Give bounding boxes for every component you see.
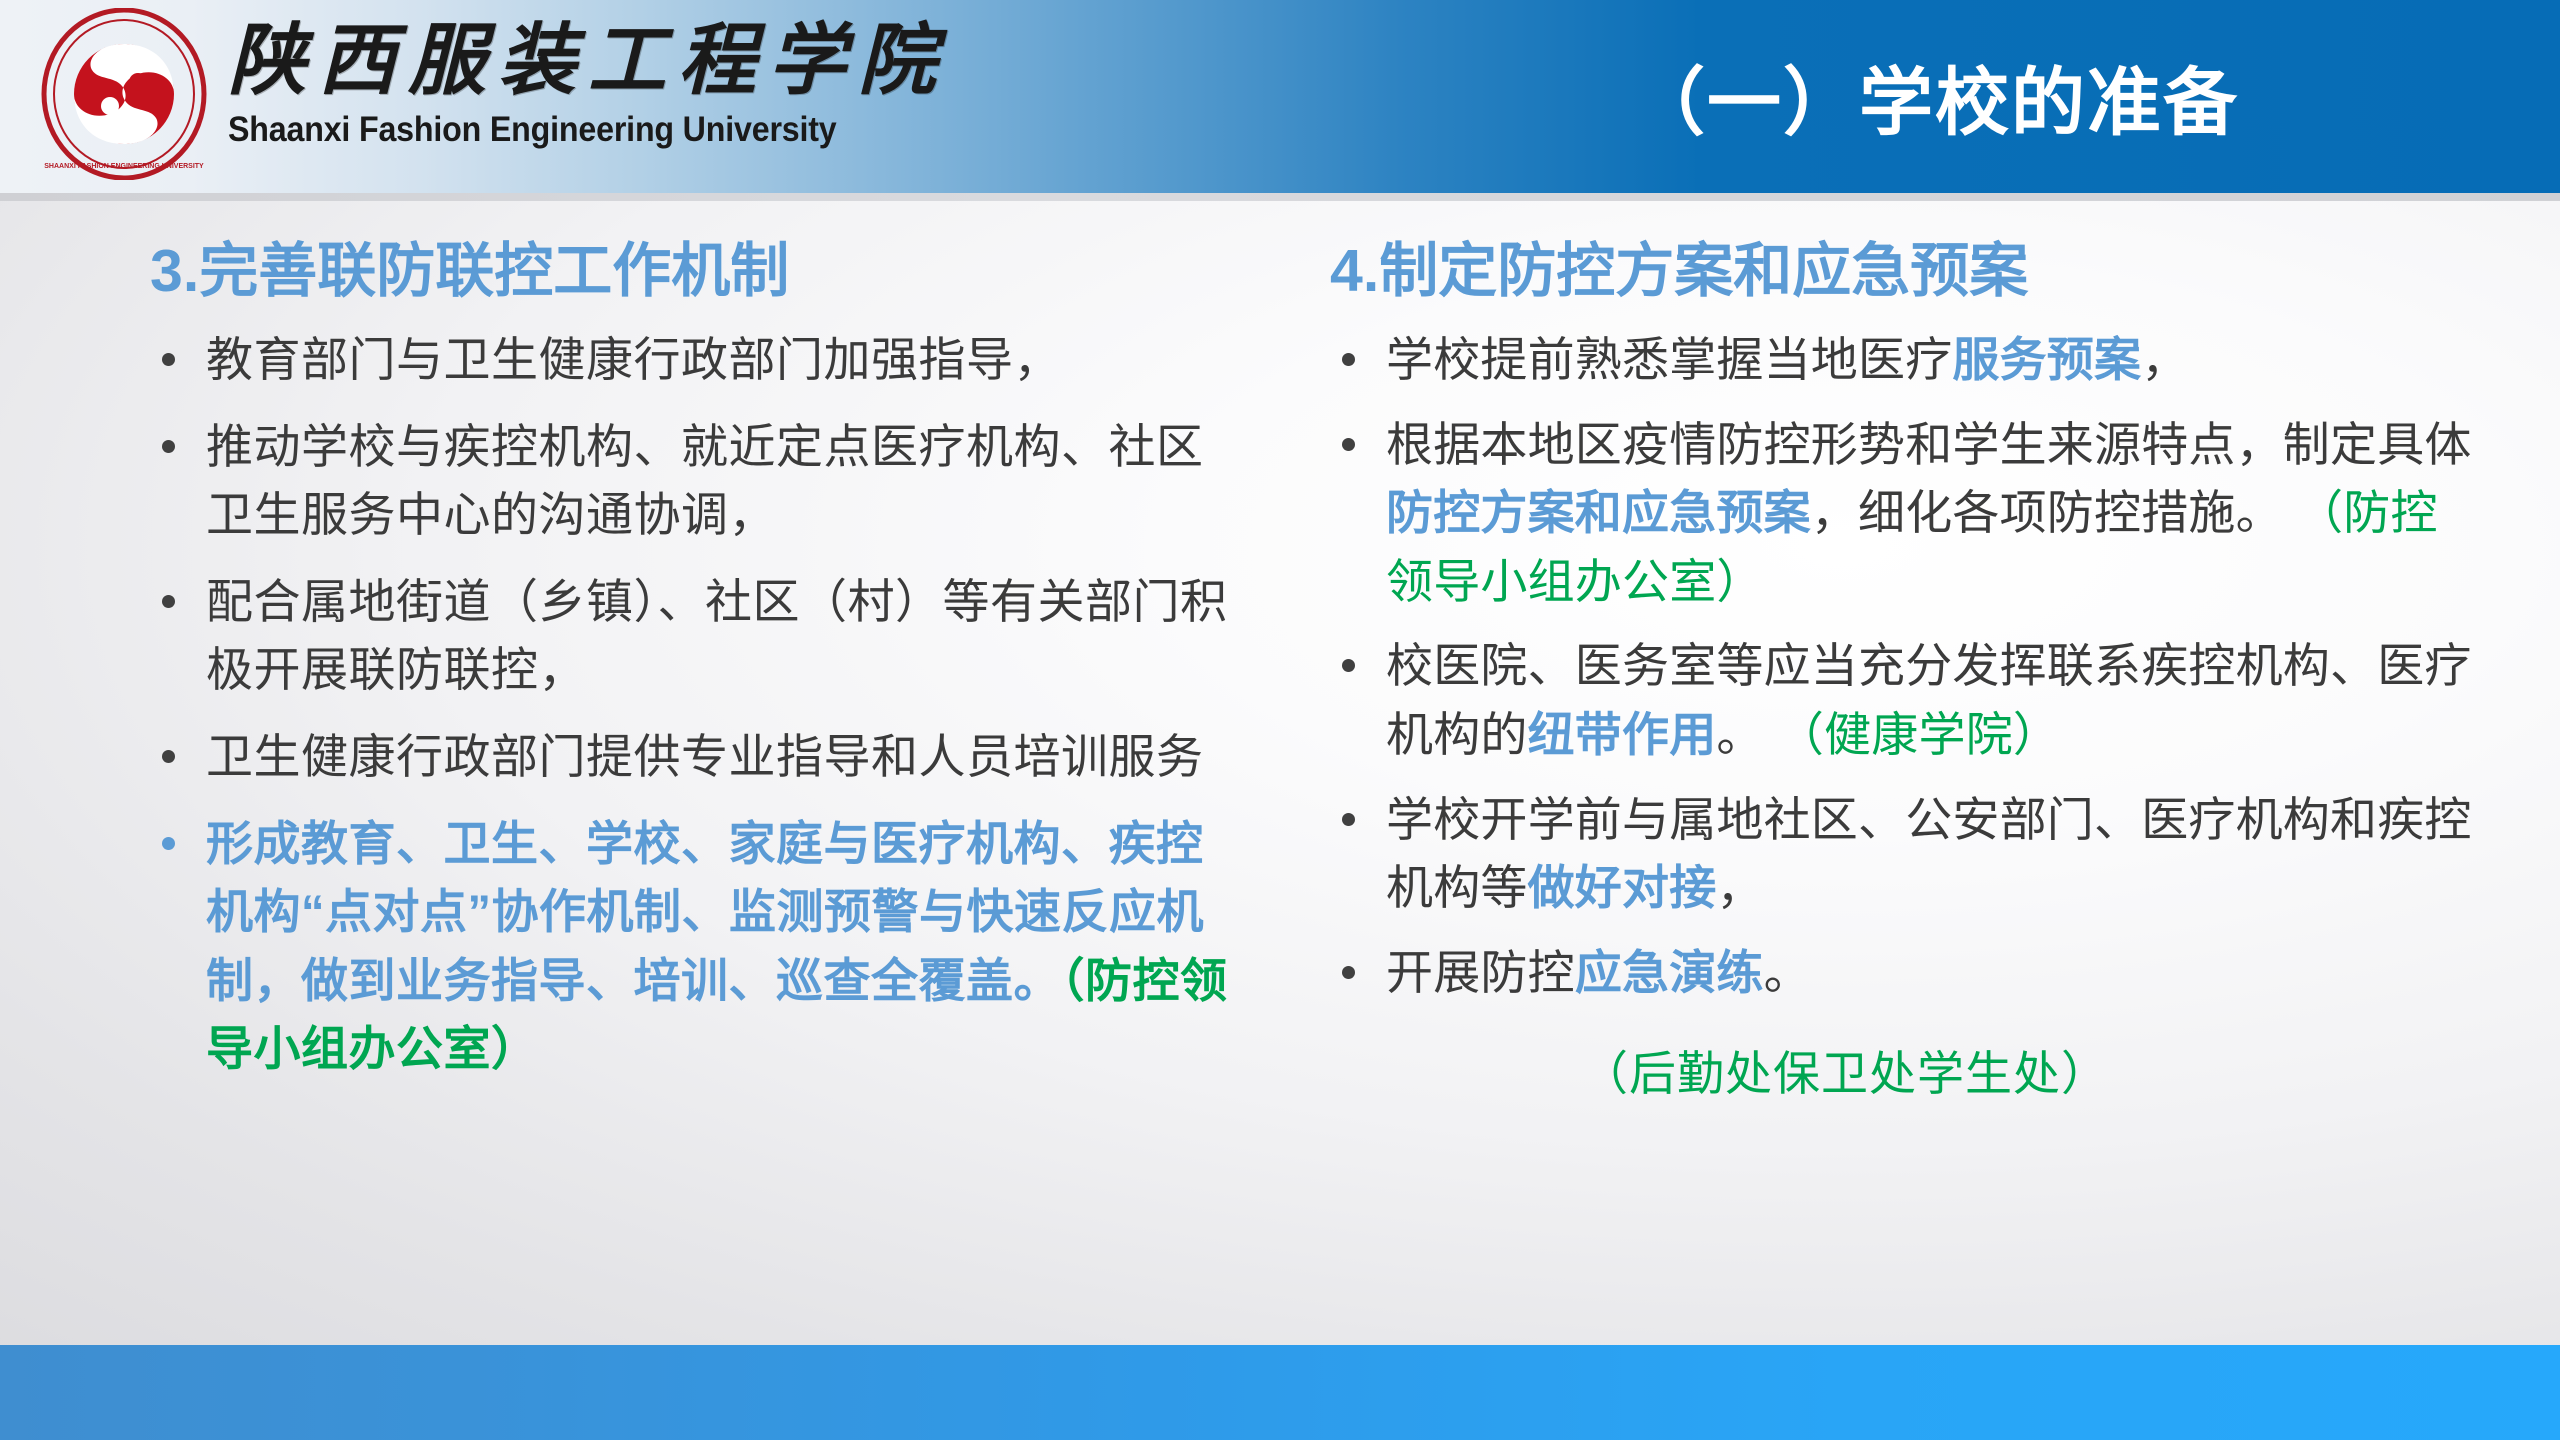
- bullet-text-segment: 形成教育、卫生、学校、家庭与医疗机构、疾控机构“点对点”协作机制、监测预警与快速…: [206, 817, 1204, 1007]
- bullet-text-segment: 教育部门与卫生健康行政部门加强指导，: [206, 333, 1061, 386]
- bullet-text-segment: 推动学校与疾控机构、就近定点医疗机构、社区卫生服务中心的沟通协调，: [206, 420, 1204, 542]
- wordmark-chinese: 陕西服装工程学院: [228, 22, 868, 100]
- slide-header: SHAANXI FASHION ENGINEERING UNIVERSITY 陕…: [0, 0, 2560, 193]
- bullet-text-segment: 配合属地街道（乡镇）、社区（村）等有关部门积极开展联防联控，: [206, 575, 1228, 697]
- bullet-item: 校医院、医务室等应当充分发挥联系疾控机构、医疗机构的纽带作用。 （健康学院）: [1330, 632, 2480, 769]
- bullet-text-segment: 做好对接: [1528, 861, 1717, 914]
- slide-title: （一）学校的准备: [1440, 0, 2560, 193]
- bullet-item: 推动学校与疾控机构、就近定点医疗机构、社区卫生服务中心的沟通协调，: [150, 413, 1250, 550]
- bullet-item: 配合属地街道（乡镇）、社区（村）等有关部门积极开展联防联控，: [150, 568, 1250, 705]
- header-underline: [0, 193, 2560, 201]
- bullet-text-segment: 。: [1716, 708, 1776, 761]
- right-column-heading: 4.制定防控方案和应急预案: [1330, 239, 2480, 304]
- slide-body: 3.完善联防联控工作机制 教育部门与卫生健康行政部门加强指导，推动学校与疾控机构…: [0, 201, 2560, 1345]
- bullet-text-segment: ，: [1716, 861, 1763, 914]
- bullet-text-segment: 纽带作用: [1528, 708, 1717, 761]
- bullet-text-segment: 学校提前熟悉掌握当地医疗: [1386, 333, 1952, 386]
- bullet-text-segment: 根据本地区疫情防控形势和学生来源特点，制定具体: [1386, 418, 2472, 471]
- left-column-heading: 3.完善联防联控工作机制: [150, 239, 1250, 304]
- right-column: 4.制定防控方案和应急预案 学校提前熟悉掌握当地医疗服务预案，根据本地区疫情防控…: [1320, 201, 2560, 1345]
- right-bullet-list: 学校提前熟悉掌握当地医疗服务预案，根据本地区疫情防控形势和学生来源特点，制定具体…: [1330, 326, 2480, 1007]
- bullet-item: 卫生健康行政部门提供专业指导和人员培训服务: [150, 723, 1250, 792]
- left-bullet-list: 教育部门与卫生健康行政部门加强指导，推动学校与疾控机构、就近定点医疗机构、社区卫…: [150, 326, 1250, 1084]
- university-logo: SHAANXI FASHION ENGINEERING UNIVERSITY: [38, 8, 210, 180]
- university-crest-icon: SHAANXI FASHION ENGINEERING UNIVERSITY: [38, 8, 210, 180]
- bullet-text-segment: 防控方案和应急预案: [1386, 486, 1811, 539]
- left-column: 3.完善联防联控工作机制 教育部门与卫生健康行政部门加强指导，推动学校与疾控机构…: [0, 201, 1320, 1345]
- bullet-item: 学校提前熟悉掌握当地医疗服务预案，: [1330, 326, 2480, 395]
- bullet-text-segment: 应急演练: [1575, 946, 1764, 999]
- bullet-text-segment: 。: [1764, 946, 1811, 999]
- slide-footer-band: [0, 1345, 2560, 1440]
- bullet-text-segment: 服务预案: [1952, 333, 2141, 386]
- bullet-text-segment: （健康学院）: [1777, 708, 2060, 761]
- bullet-item: 开展防控应急演练。: [1330, 939, 2480, 1008]
- bullet-item: 教育部门与卫生健康行政部门加强指导，: [150, 326, 1250, 395]
- slide-canvas: SHAANXI FASHION ENGINEERING UNIVERSITY 陕…: [0, 0, 2560, 1440]
- bullet-text-segment: ，: [2141, 333, 2188, 386]
- bullet-item: 形成教育、卫生、学校、家庭与医疗机构、疾控机构“点对点”协作机制、监测预警与快速…: [150, 810, 1250, 1084]
- wordmark: 陕西服装工程学院 Shaanxi Fashion Engineering Uni…: [228, 14, 868, 174]
- wordmark-english: Shaanxi Fashion Engineering University: [228, 110, 817, 150]
- svg-text:SHAANXI FASHION ENGINEERING UN: SHAANXI FASHION ENGINEERING UNIVERSITY: [44, 163, 204, 170]
- bullet-text-segment: ，细化各项防控措施。: [1811, 486, 2296, 539]
- bullet-text-segment: 卫生健康行政部门提供专业指导和人员培训服务: [206, 730, 1204, 783]
- bullet-text-segment: 开展防控: [1386, 946, 1575, 999]
- right-column-center-note: （后勤处保卫处学生处）: [1330, 1035, 2480, 1104]
- bullet-item: 学校开学前与属地社区、公安部门、医疗机构和疾控机构等做好对接，: [1330, 786, 2480, 923]
- bullet-item: 根据本地区疫情防控形势和学生来源特点，制定具体防控方案和应急预案，细化各项防控措…: [1330, 411, 2480, 617]
